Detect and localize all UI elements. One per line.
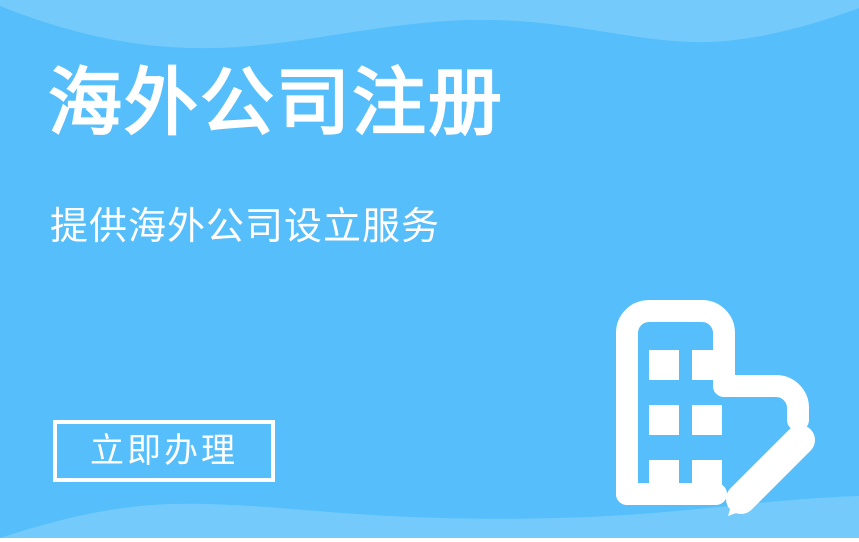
overseas-company-registration-banner: 海外公司注册 提供海外公司设立服务 立即办理 <box>0 0 859 542</box>
apply-now-button[interactable]: 立即办理 <box>53 420 275 482</box>
window-grid <box>649 350 722 490</box>
building-edit-icon-svg <box>604 300 824 542</box>
building-edit-icon <box>604 300 824 542</box>
pencil-icon <box>728 440 800 516</box>
page-title: 海外公司注册 <box>48 66 504 140</box>
page-subtitle: 提供海外公司设立服务 <box>50 208 440 246</box>
banner-content: 海外公司注册 提供海外公司设立服务 立即办理 <box>0 0 859 542</box>
